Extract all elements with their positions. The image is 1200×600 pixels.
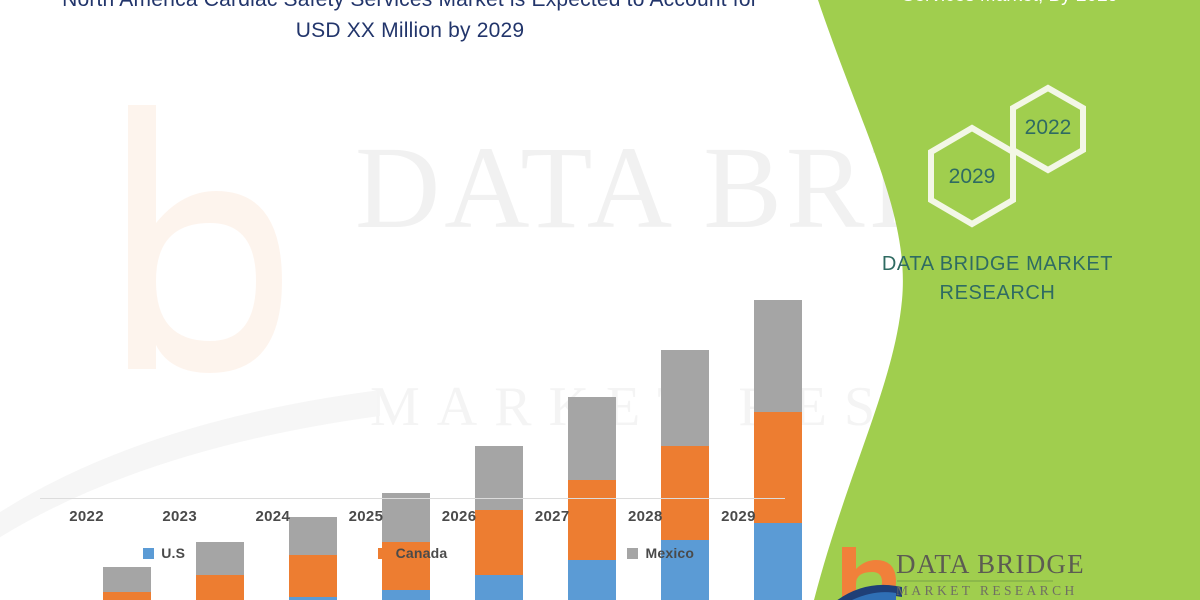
- legend-swatch-icon: [378, 548, 389, 559]
- legend-label: U.S: [161, 545, 185, 561]
- x-axis-labels: 20222023202420252026202720282029: [40, 508, 785, 538]
- panel-title: Services Market, By 2029: [815, 0, 1200, 10]
- bar-segment-us[interactable]: [475, 575, 523, 600]
- page-title: North America Cardiac Safety Services Ma…: [60, 0, 760, 46]
- bar-segment-canada[interactable]: [103, 592, 151, 600]
- green-panel-content: Services Market, By 2029 2022 2029 DATA …: [770, 0, 1200, 600]
- stacked-bar[interactable]: [103, 567, 151, 600]
- bar-chart: [40, 140, 785, 500]
- hexagon-label-2029: 2029: [937, 165, 1007, 189]
- x-axis-label: 2026: [413, 508, 506, 538]
- logo-wordmark: DATA BRIDGE MARKET RESEARCH: [896, 549, 1085, 599]
- chart-legend: U.SCanadaMexico: [40, 540, 785, 566]
- x-axis-label: 2022: [40, 508, 133, 538]
- x-axis-line: [40, 498, 785, 499]
- bar-segment-us[interactable]: [568, 560, 616, 600]
- x-axis-label: 2025: [319, 508, 412, 538]
- hexagon-badges: 2022 2029: [915, 80, 1105, 230]
- x-axis-label: 2024: [226, 508, 319, 538]
- data-bridge-logo: DATA BRIDGE MARKET RESEARCH: [836, 545, 1196, 600]
- legend-label: Mexico: [645, 545, 694, 561]
- bar-segment-mexico[interactable]: [568, 397, 616, 480]
- infographic-canvas: DATA BRIDGE MARKET RESEARCH North Americ…: [0, 0, 1200, 600]
- bar-segment-mexico[interactable]: [661, 350, 709, 446]
- x-axis-label: 2027: [506, 508, 599, 538]
- logo-tagline: MARKET RESEARCH: [896, 583, 1085, 599]
- bar-segment-canada[interactable]: [196, 575, 244, 600]
- legend-item-canada[interactable]: Canada: [288, 545, 536, 561]
- legend-item-us[interactable]: U.S: [40, 545, 288, 561]
- logo-b-mark-icon: [836, 545, 902, 600]
- legend-item-mexico[interactable]: Mexico: [537, 545, 785, 561]
- x-axis-label: 2023: [133, 508, 226, 538]
- legend-label: Canada: [396, 545, 448, 561]
- panel-brand-text: DATA BRIDGE MARKET RESEARCH: [825, 250, 1170, 308]
- logo-divider: [897, 580, 1053, 582]
- bar-segment-mexico[interactable]: [475, 446, 523, 510]
- hexagon-label-2022: 2022: [1013, 116, 1083, 140]
- legend-swatch-icon: [627, 548, 638, 559]
- bar-segment-mexico[interactable]: [103, 567, 151, 592]
- bar-segment-us[interactable]: [382, 590, 430, 600]
- legend-swatch-icon: [143, 548, 154, 559]
- x-axis-label: 2028: [599, 508, 692, 538]
- logo-name: DATA BRIDGE: [896, 549, 1085, 579]
